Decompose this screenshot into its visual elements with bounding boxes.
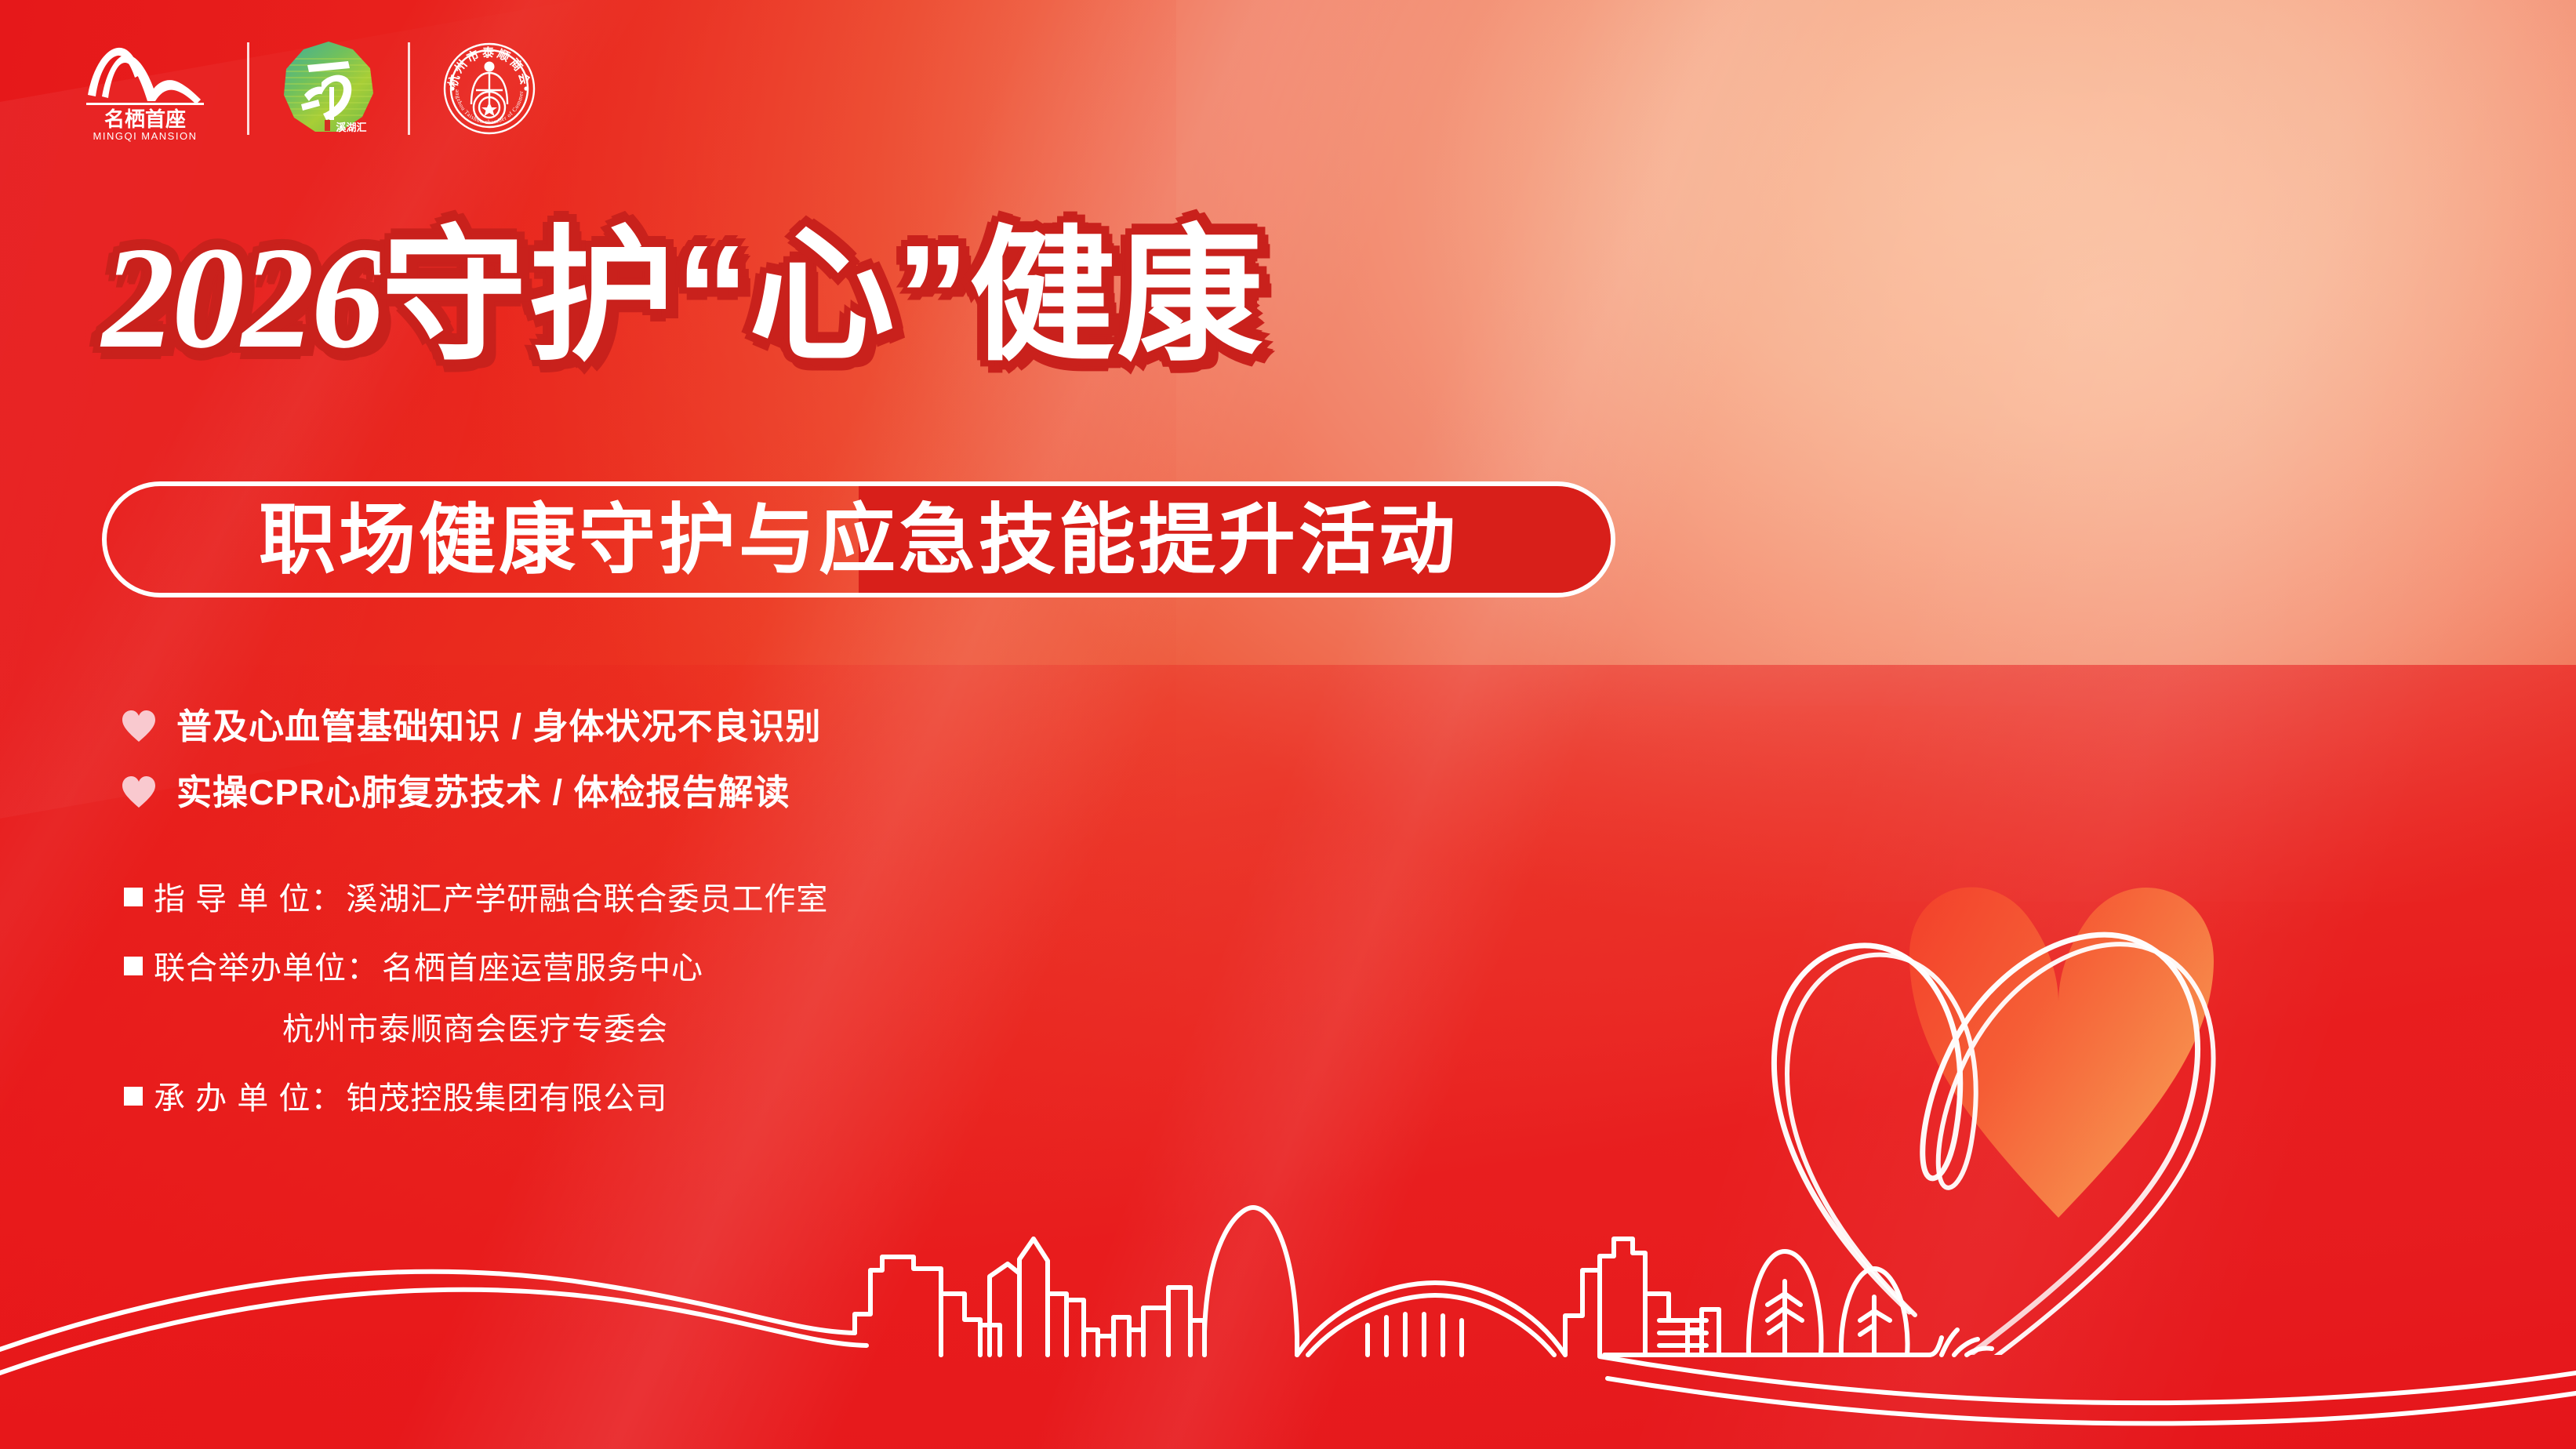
- subtitle-text: 职场健康守护与应急技能提升活动: [107, 501, 1611, 578]
- organizer-value: 铂茂控股集团有限公司: [346, 1081, 667, 1116]
- title-word-1: 守护: [381, 216, 676, 378]
- title-year: 2026: [102, 217, 381, 379]
- organizer-row: 指 导 单 位： 溪湖汇产学研融合联合委员工作室: [124, 882, 828, 917]
- round-seal-icon: 杭州市泰顺商会 Hangzhou Taishun chamber of Comm…: [441, 38, 537, 139]
- organizer-label: 联合举办单位：: [154, 951, 379, 986]
- highlight-list: 普及心血管基础知识 / 身体状况不良识别 实操CPR心肺复苏技术 / 体检报告解…: [122, 698, 822, 830]
- list-item: 普及心血管基础知识 / 身体状况不良识别: [122, 698, 822, 754]
- svg-text:溪湖汇: 溪湖汇: [336, 122, 366, 133]
- organizer-label: 承 办 单 位：: [154, 1081, 343, 1116]
- organizer-value: 杭州市泰顺商会医疗专委会: [282, 1012, 668, 1047]
- page-title: 2026守护“心”健康: [102, 224, 1264, 371]
- mountain-wave-icon: 名栖首座 MINGQI MANSION: [78, 34, 216, 143]
- logo-divider: [408, 42, 410, 135]
- logo-divider: [247, 42, 249, 135]
- bullet-square-icon: [124, 888, 143, 906]
- heart-icon: [122, 710, 156, 743]
- bullet-square-icon: [124, 957, 143, 975]
- organizer-value: 溪湖汇产学研融合联合委员工作室: [346, 882, 828, 917]
- list-item: 实操CPR心肺复苏技术 / 体检报告解读: [122, 764, 822, 820]
- title-word-2: 健康: [969, 216, 1264, 378]
- bullet-square-icon: [124, 1087, 143, 1106]
- organizer-list: 指 导 单 位： 溪湖汇产学研融合联合委员工作室 联合举办单位： 名栖首座运营服…: [124, 882, 828, 1150]
- subtitle-banner: 职场健康守护与应急技能提升活动: [102, 481, 1615, 597]
- list-item-label: 普及心血管基础知识 / 身体状况不良识别: [176, 709, 822, 744]
- svg-text:名栖首座: 名栖首座: [104, 107, 186, 131]
- organizer-value: 名栖首座运营服务中心: [382, 951, 703, 986]
- title-quote-open: “: [676, 216, 749, 378]
- event-poster-banner: 名栖首座 MINGQI MANSION: [0, 0, 2576, 1449]
- organizer-label: 指 导 单 位：: [154, 882, 343, 917]
- organizer-row: 承 办 单 位： 铂茂控股集团有限公司: [124, 1081, 828, 1116]
- heart-icon: [122, 775, 156, 808]
- organizer-row: 联合举办单位： 名栖首座运营服务中心: [124, 951, 828, 986]
- calligraphy-circle-icon: 溪湖汇: [281, 38, 376, 139]
- organizer-row-continuation: 杭州市泰顺商会医疗专委会: [282, 1012, 828, 1047]
- header-logo-bar: 名栖首座 MINGQI MANSION: [78, 31, 537, 145]
- title-quoted-char: 心: [749, 216, 896, 378]
- svg-text:MINGQI MANSION: MINGQI MANSION: [93, 130, 198, 142]
- list-item-label: 实操CPR心肺复苏技术 / 体检报告解读: [176, 775, 790, 810]
- subtitle-left-part: 职场健康守护与: [259, 496, 819, 583]
- title-quote-close: ”: [896, 216, 969, 378]
- subtitle-right-part: 应急技能提升活动: [819, 496, 1459, 583]
